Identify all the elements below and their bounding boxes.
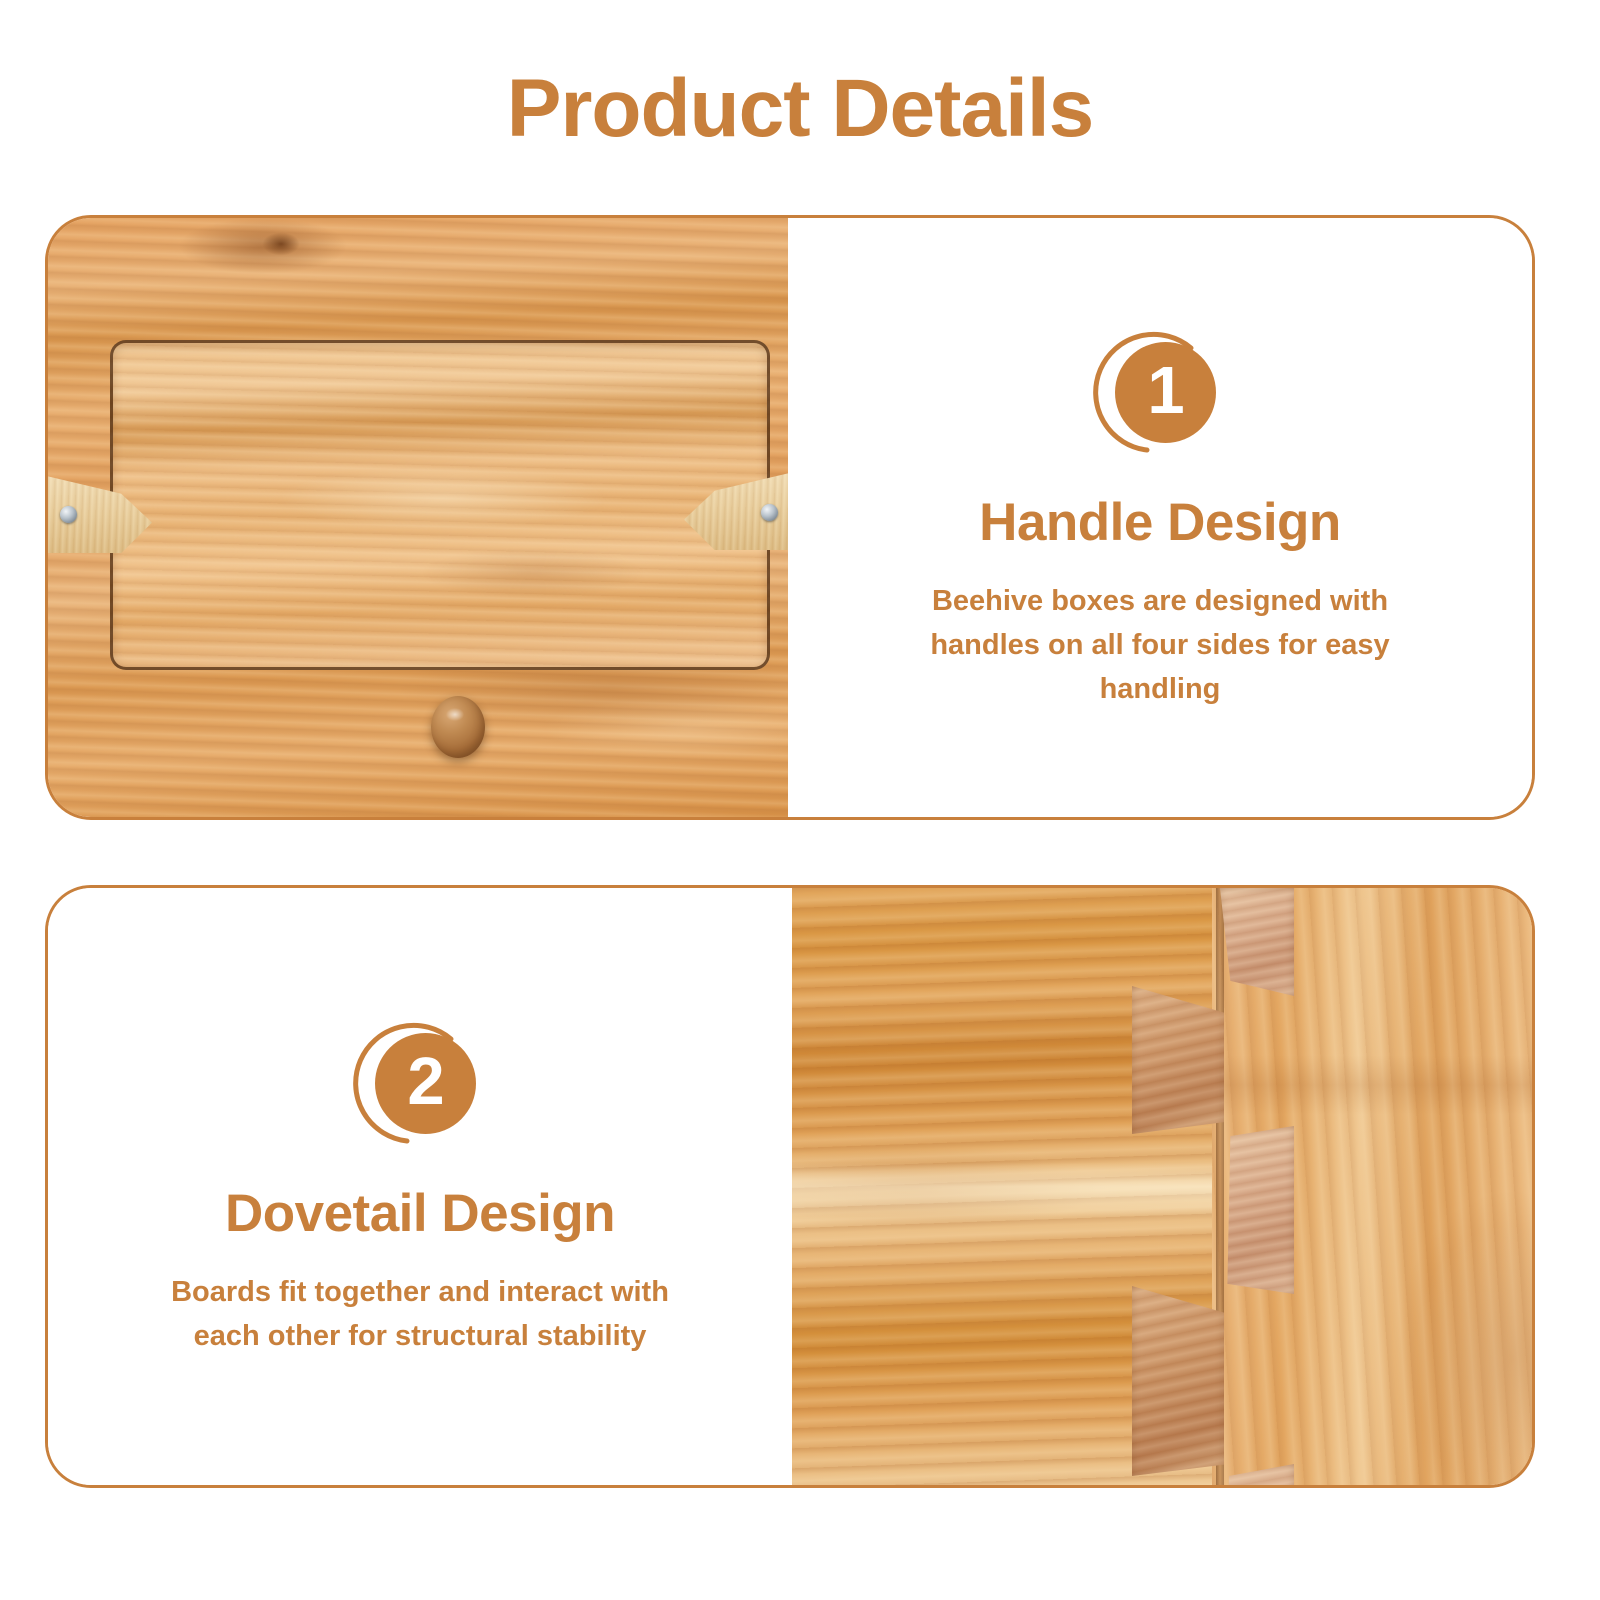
feature-text-dovetail-design: 2 Dovetail Design Boards fit together an… [48, 888, 792, 1485]
badge-disc: 2 [375, 1033, 476, 1134]
badge-number-1: 1 [1085, 324, 1235, 460]
round-knob-icon [431, 696, 485, 758]
page-title: Product Details [0, 68, 1600, 150]
screw-head-icon [761, 504, 778, 521]
dovetail-tenon [1220, 888, 1294, 996]
dovetail-tenon [1220, 1126, 1294, 1294]
dovetail-joint-corner-photo [792, 888, 1532, 1485]
badge-label: 2 [407, 1048, 443, 1119]
feature-card-dovetail-design: 2 Dovetail Design Boards fit together an… [45, 885, 1535, 1488]
feature-title: Handle Design [979, 494, 1341, 551]
product-details-page: Product Details 1 Handle Design Beehive … [0, 0, 1600, 1600]
recessed-panel [110, 340, 770, 670]
feature-text-handle-design: 1 Handle Design Beehive boxes are design… [788, 218, 1532, 817]
badge-disc: 1 [1115, 342, 1216, 443]
badge-label: 1 [1147, 357, 1183, 428]
feature-description: Boards fit together and interact with ea… [165, 1270, 675, 1358]
feature-description: Beehive boxes are designed with handles … [890, 579, 1430, 711]
feature-card-handle-design: 1 Handle Design Beehive boxes are design… [45, 215, 1535, 820]
screw-head-icon [60, 506, 77, 523]
feature-title: Dovetail Design [225, 1185, 615, 1242]
dovetail-tenon [1132, 1286, 1224, 1476]
badge-number-2: 2 [345, 1015, 495, 1151]
beehive-box-handle-photo [48, 218, 788, 817]
